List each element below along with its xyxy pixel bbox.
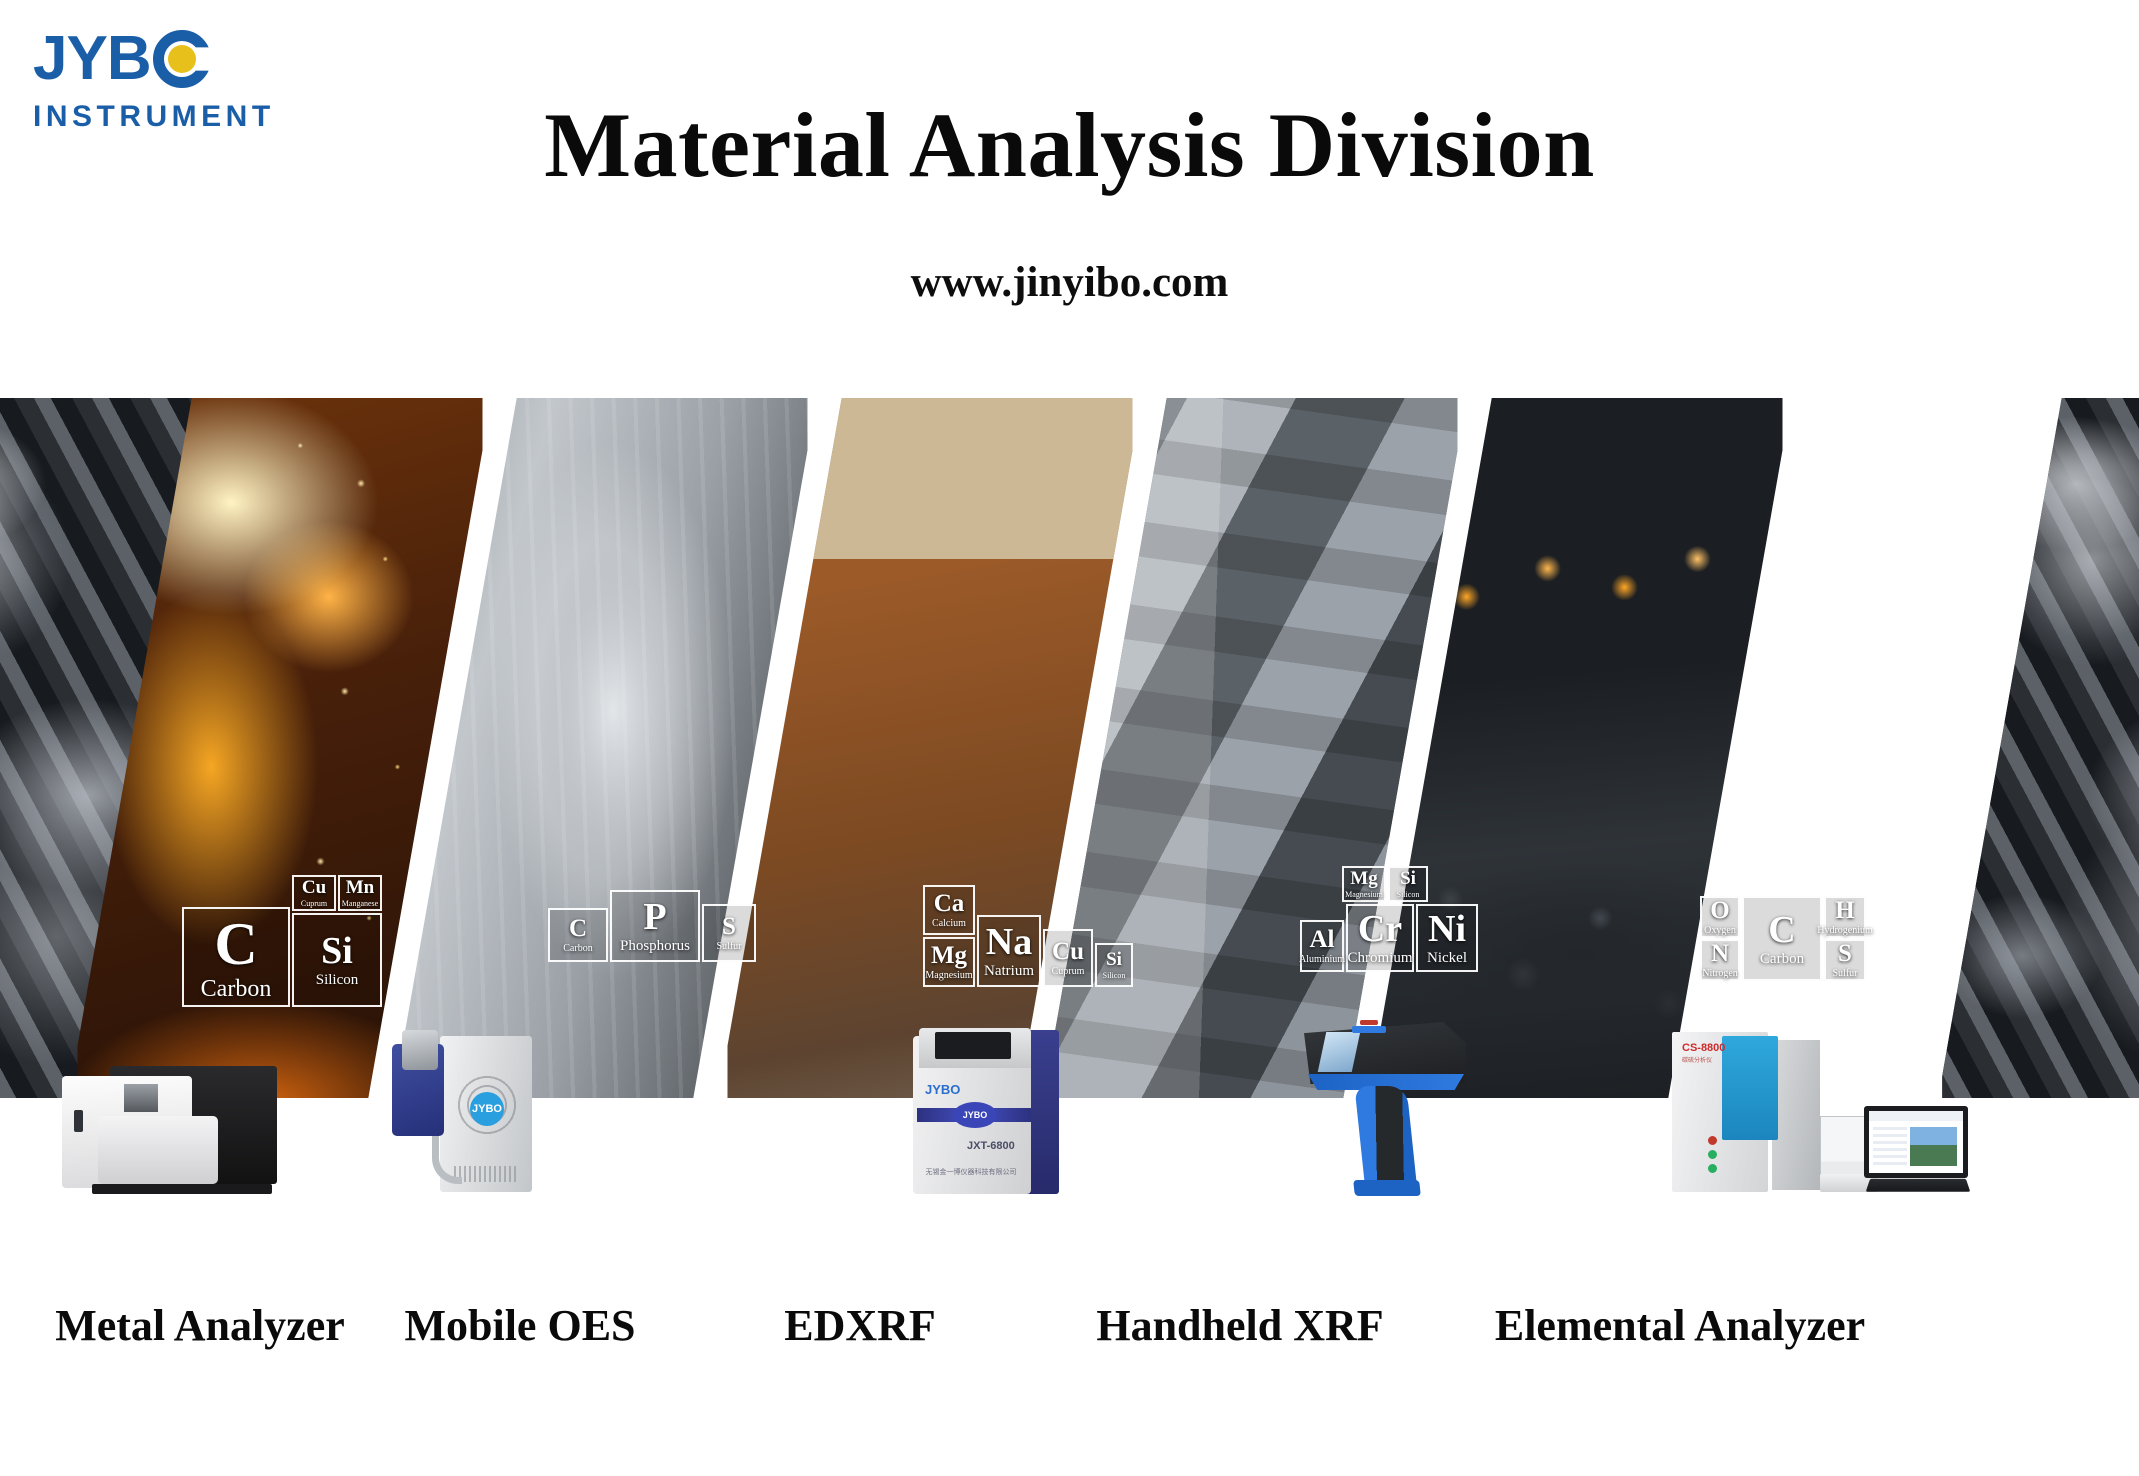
element-name: Sulfur	[717, 942, 742, 952]
status-light	[1708, 1150, 1717, 1159]
element-name: Carbon	[201, 977, 272, 1001]
element-badge-sulfur: S Sulfur	[1824, 939, 1866, 981]
element-name: Magnesium	[1345, 891, 1383, 899]
elemental-analyzer-keyboard	[1866, 1179, 1971, 1192]
element-name: Phosphorus	[620, 939, 690, 954]
gears-photo-right	[1942, 398, 2139, 1098]
element-badge-cuprum: Cu Cuprum	[1043, 929, 1093, 987]
product-image-edxrf: JYBO JYBO JXT-6800 无锡金一博仪器科技有限公司	[905, 1022, 1080, 1202]
element-badge-carbon: C Carbon	[1742, 896, 1822, 981]
element-name: Natrium	[984, 964, 1034, 979]
edge-panel-right	[1938, 398, 2139, 1098]
elemental-analyzer-model-sublabel: 碳硫分析仪	[1682, 1055, 1712, 1064]
element-name: Manganese	[342, 900, 378, 908]
mobile-oes-logo-badge: JYBO	[470, 1092, 504, 1126]
product-label-handheld-xrf: Handheld XRF	[1065, 1300, 1415, 1351]
edxrf-sample-chamber	[935, 1032, 1011, 1059]
product-image-metal-analyzer	[62, 1058, 277, 1198]
element-symbol: Mn	[346, 878, 375, 897]
elemental-analyzer-screen	[1869, 1111, 1963, 1173]
element-name: Nickel	[1427, 951, 1467, 966]
metal-analyzer-port	[74, 1110, 83, 1132]
edxrf-oval-badge: JYBO	[953, 1102, 997, 1128]
element-badge-nitrogen: N Nitrogen	[1700, 939, 1740, 981]
product-label-metal-analyzer: Metal Analyzer	[25, 1300, 375, 1351]
edxrf-company-text: 无锡金一博仪器科技有限公司	[925, 1168, 1017, 1184]
element-symbol: Al	[1310, 927, 1335, 952]
element-symbol: Cr	[1358, 910, 1402, 948]
element-symbol: Mg	[1350, 869, 1377, 888]
product-image-elemental-analyzer: CS-8800 碳硫分析仪	[1672, 1028, 1972, 1200]
element-symbol: S	[1838, 941, 1852, 966]
element-badge-hydrogenium: H Hydrogenium	[1824, 896, 1866, 938]
element-symbol: P	[643, 898, 666, 936]
element-badge-magnesium: Mg Magnesium	[923, 937, 975, 987]
element-symbol: H	[1835, 898, 1854, 923]
element-badge-aluminium: Al Aluminium	[1300, 920, 1344, 972]
product-label-elemental-analyzer: Elemental Analyzer	[1455, 1300, 1905, 1351]
status-light	[1708, 1136, 1717, 1145]
element-badge-silicon: Si Silicon	[1095, 943, 1133, 987]
element-symbol: Si	[1106, 950, 1122, 969]
element-symbol: N	[1711, 941, 1729, 966]
handheld-xrf-grip	[1354, 1086, 1417, 1192]
badge-group-handheld-xrf: Mg Magnesium Si Silicon Al Aluminium Cr …	[1300, 866, 1590, 996]
element-badge-magnesium: Mg Magnesium	[1342, 866, 1386, 902]
element-symbol: S	[722, 914, 736, 939]
element-symbol: C	[214, 914, 257, 974]
website-url: www.jinyibo.com	[0, 258, 2139, 307]
badge-group-edxrf: Ca Calcium Mg Magnesium Na Natrium Cu Cu…	[923, 885, 1213, 995]
element-name: Silicon	[1397, 891, 1420, 899]
product-image-handheld-xrf	[1298, 1012, 1478, 1202]
element-badge-phosphorus: P Phosphorus	[610, 890, 700, 962]
mobile-oes-vent	[454, 1166, 518, 1182]
element-badge-carbon: C Carbon	[182, 907, 290, 1007]
element-name: Hydrogenium	[1817, 926, 1873, 936]
element-symbol: Cu	[302, 878, 326, 897]
badge-group-elemental-analyzer: O Oxygen N Nitrogen C Carbon H Hydrogeni…	[1700, 896, 1960, 1006]
element-badge-silicon: Si Silicon	[1388, 866, 1428, 902]
logo-o-dot	[168, 45, 196, 73]
element-name: Aluminium	[1299, 955, 1345, 965]
element-badge-calcium: Ca Calcium	[923, 885, 975, 935]
elemental-analyzer-model-label: CS-8800	[1682, 1042, 1725, 1054]
element-name: Calcium	[932, 919, 966, 929]
element-symbol: Si	[321, 932, 353, 970]
elemental-analyzer-status-lights	[1708, 1136, 1720, 1178]
element-symbol: C	[569, 916, 587, 941]
edxrf-brand-logo: JYBO	[925, 1082, 960, 1097]
metal-analyzer-front-panel	[98, 1116, 218, 1184]
element-name: Silicon	[316, 973, 359, 988]
element-symbol: C	[1768, 911, 1795, 949]
element-name: Oxygen	[1704, 926, 1736, 936]
product-label-mobile-oes: Mobile OES	[345, 1300, 695, 1351]
handheld-xrf-led-bar	[1352, 1026, 1386, 1033]
badge-group-mobile-oes: C Carbon P Phosphorus S Sulfur	[548, 890, 798, 980]
elemental-analyzer-rear-cabinet	[1772, 1040, 1820, 1190]
element-name: Nitrogen	[1702, 969, 1738, 979]
elemental-analyzer-blue-door	[1722, 1036, 1778, 1140]
element-badge-carbon: C Carbon	[548, 908, 608, 962]
element-symbol: Si	[1400, 869, 1416, 888]
logo-o-icon	[153, 30, 211, 88]
element-badge-cuprum: Cu Cuprum	[292, 875, 336, 911]
element-badge-manganese: Mn Manganese	[338, 875, 382, 911]
element-name: Silicon	[1103, 972, 1126, 980]
badge-group-metal-analyzer: C Carbon Cu Cuprum Mn Manganese Si Silic…	[182, 875, 442, 1015]
element-name: Cuprum	[1052, 967, 1085, 977]
element-symbol: Ca	[934, 891, 965, 916]
product-label-row: Metal Analyzer Mobile OES EDXRF Handheld…	[0, 1300, 2139, 1370]
element-symbol: Mg	[931, 943, 967, 968]
element-name: Cuprum	[301, 900, 327, 908]
elemental-analyzer-monitor	[1864, 1106, 1968, 1178]
edxrf-model-number: JXT-6800	[967, 1140, 1015, 1152]
element-badge-oxygen: O Oxygen	[1700, 896, 1740, 938]
element-symbol: Ni	[1428, 910, 1466, 948]
page-title: Material Analysis Division	[0, 92, 2139, 198]
element-name: Magnesium	[925, 971, 972, 981]
element-badge-natrium: Na Natrium	[977, 915, 1041, 987]
product-image-mobile-oes: JYBO	[378, 1030, 553, 1200]
element-badge-silicon: Si Silicon	[292, 913, 382, 1007]
status-light	[1708, 1164, 1717, 1173]
logo-wordmark: JYB	[33, 28, 151, 90]
element-name: Chromium	[1348, 951, 1413, 966]
element-badge-nickel: Ni Nickel	[1416, 904, 1478, 972]
handheld-xrf-base	[1353, 1180, 1421, 1196]
element-badge-chromium: Cr Chromium	[1346, 904, 1414, 972]
element-name: Sulfur	[1833, 969, 1858, 979]
handheld-xrf-indicator	[1360, 1020, 1378, 1025]
element-badge-sulfur: S Sulfur	[702, 904, 756, 962]
mobile-oes-probe-tip	[402, 1030, 438, 1070]
element-name: Carbon	[1760, 952, 1804, 967]
product-label-edxrf: EDXRF	[735, 1300, 985, 1351]
element-symbol: Cu	[1052, 939, 1084, 964]
element-symbol: O	[1710, 898, 1729, 923]
metal-analyzer-base	[92, 1184, 272, 1194]
element-name: Carbon	[563, 944, 592, 954]
metal-analyzer-optics	[124, 1084, 158, 1112]
logo-mark: JYB	[33, 28, 293, 90]
element-symbol: Na	[986, 923, 1032, 961]
